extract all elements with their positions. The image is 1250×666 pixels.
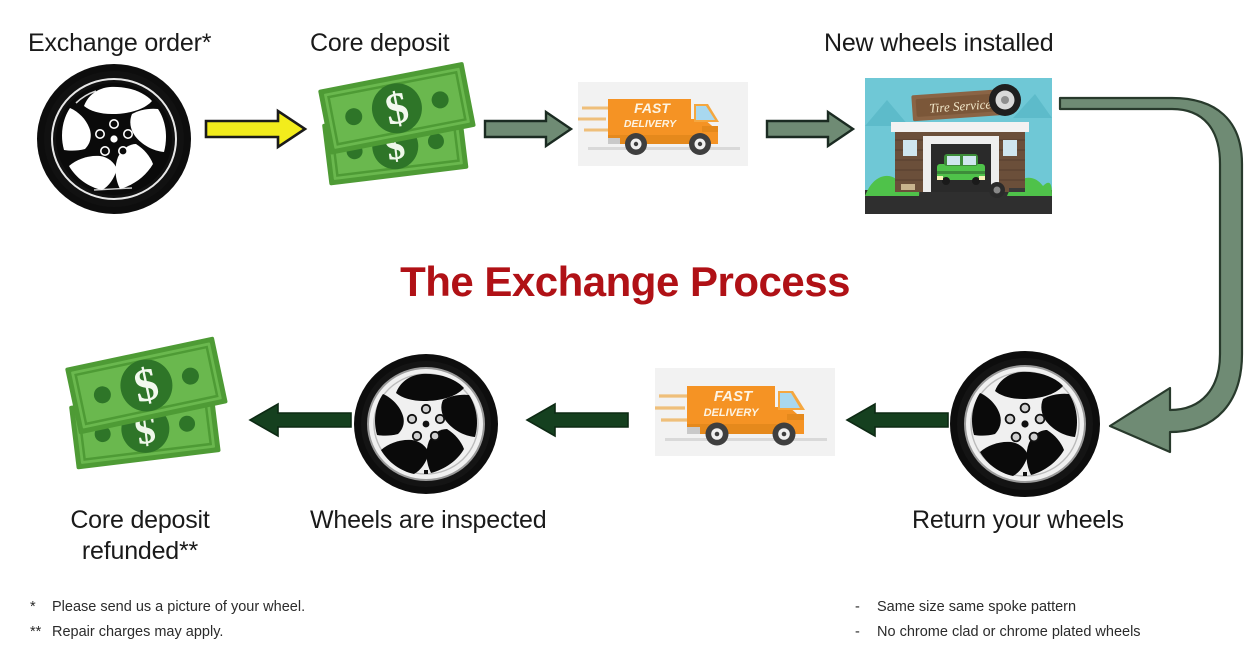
label-return-your-wheels: Return your wheels xyxy=(912,505,1124,536)
arrow-shipping-to-inspection-icon xyxy=(525,402,629,438)
footnote-text: No chrome clad or chrome plated wheels xyxy=(877,624,1141,640)
truck-text-fast: FAST xyxy=(634,100,671,116)
footnote-text: Repair charges may apply. xyxy=(52,624,223,640)
truck-text-delivery: DELIVERY xyxy=(624,118,677,130)
footnote-text: Same size same spoke pattern xyxy=(877,599,1076,615)
footnote-left-2: **Repair charges may apply. xyxy=(30,620,223,645)
wheel-light-icon-return xyxy=(947,348,1103,500)
label-core-deposit-refunded-line1: Core deposit xyxy=(30,505,250,536)
money-icon-bottom: $ $ xyxy=(57,348,237,488)
arrow-inspection-to-refund-icon xyxy=(248,402,352,438)
footnote-left-1: *Please send us a picture of your wheel. xyxy=(30,595,305,620)
delivery-truck-icon-top: FAST DELIVERY xyxy=(578,82,748,166)
tire-service-shop-icon: Tire Service xyxy=(865,78,1052,214)
footnote-right-1: -Same size same spoke pattern xyxy=(855,595,1076,620)
footnote-text: Please send us a picture of your wheel. xyxy=(52,599,305,615)
arrow-return-to-shipping-icon xyxy=(845,402,949,438)
label-core-deposit-refunded-line2: refunded** xyxy=(30,536,250,567)
label-exchange-order: Exchange order* xyxy=(28,28,211,59)
arrow-order-to-deposit-icon xyxy=(204,108,308,150)
footnote-marker: * xyxy=(30,595,52,620)
label-wheels-are-inspected: Wheels are inspected xyxy=(310,505,546,536)
money-icon-top: $ $ xyxy=(312,72,480,204)
wheel-dark-icon xyxy=(34,62,194,217)
truck-text-fast-bottom: FAST xyxy=(714,388,754,405)
arrow-deposit-to-shipping-icon xyxy=(484,110,574,148)
footnote-marker: - xyxy=(855,620,877,645)
exchange-process-diagram: Exchange order* Core deposit New wheels … xyxy=(0,0,1250,666)
delivery-truck-icon-bottom: FAST DELIVERY xyxy=(655,368,835,456)
footnote-marker: - xyxy=(855,595,877,620)
page-title: The Exchange Process xyxy=(0,258,1250,306)
footnote-marker: ** xyxy=(30,620,52,645)
footnote-right-2: -No chrome clad or chrome plated wheels xyxy=(855,620,1141,645)
truck-text-delivery-bottom: DELIVERY xyxy=(704,407,760,419)
arrow-shipping-to-shop-icon xyxy=(766,110,856,148)
label-new-wheels-installed: New wheels installed xyxy=(824,28,1053,59)
label-core-deposit: Core deposit xyxy=(310,28,449,59)
wheel-light-icon-inspected xyxy=(352,352,500,496)
